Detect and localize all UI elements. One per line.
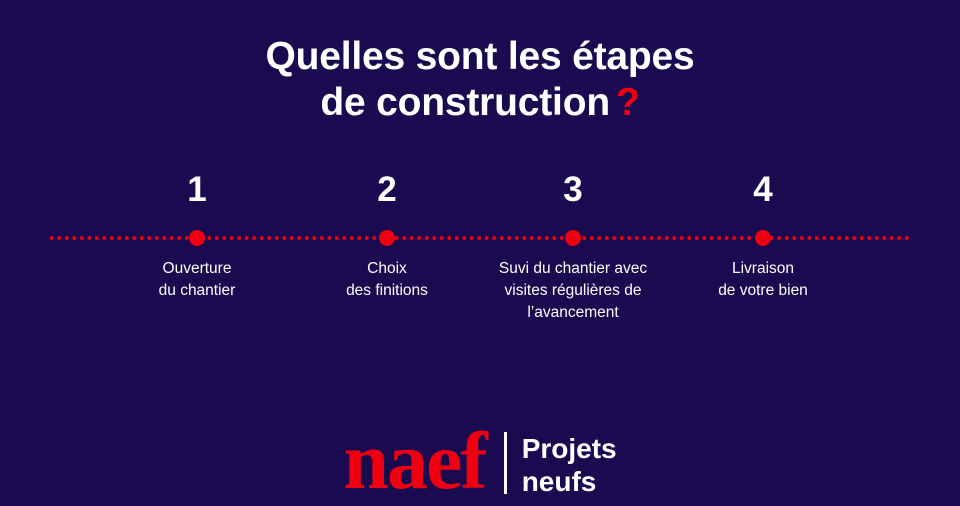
step-number-3: 3 [473,170,673,210]
logo-divider [504,432,507,494]
step-number-2: 2 [287,170,487,210]
step-marker-dot-3[interactable] [565,230,581,246]
slide-root: Quelles sont les étapes de construction?… [0,0,960,500]
question-mark-icon: ? [616,81,640,124]
step-label-3: Suvi du chantier avec visites régulières… [473,258,673,324]
step-number-4: 4 [663,170,863,210]
step-marker-dot-4[interactable] [755,230,771,246]
brand-logo: naef Projets neufs [0,418,960,502]
logo-wordmark-naef: naef [343,420,485,502]
step-marker-dot-1[interactable] [189,230,205,246]
timeline-rail-dotted-line [48,236,912,240]
step-label-4: Livraison de votre bien [663,258,863,302]
step-label-2: Choix des finitions [287,258,487,302]
page-title: Quelles sont les étapes de construction? [0,34,960,125]
step-label-1: Ouverture du chantier [97,258,297,302]
title-line-2: de construction [320,81,610,124]
title-line-2-wrapper: de construction? [0,80,960,126]
step-number-1: 1 [97,170,297,210]
step-marker-dot-2[interactable] [379,230,395,246]
logo-tagline: Projets neufs [522,432,617,498]
title-line-1: Quelles sont les étapes [0,34,960,80]
timeline: 1 Ouverture du chantier 2 Choix des fini… [0,170,960,330]
